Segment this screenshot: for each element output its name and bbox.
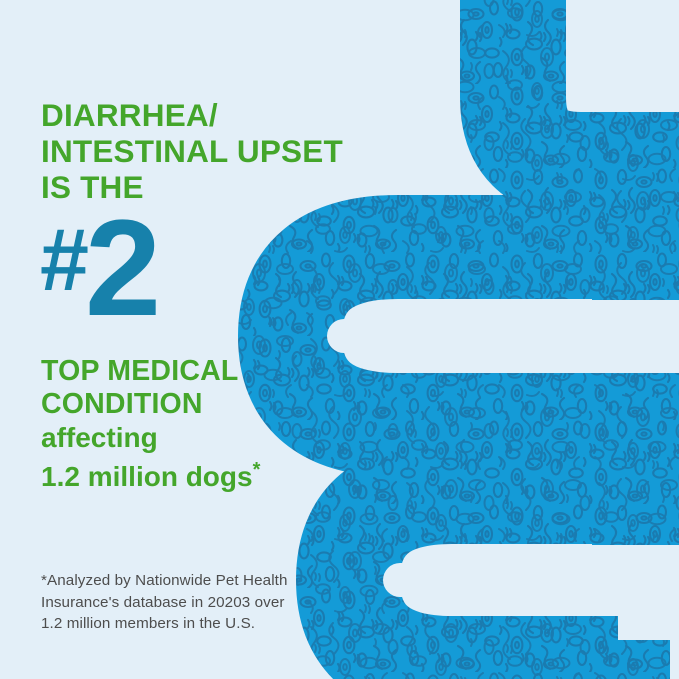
headline: DIARRHEA/ INTESTINAL UPSET IS THE xyxy=(41,97,371,205)
subheadline: TOP MEDICAL CONDITION affecting 1.2 mill… xyxy=(41,355,361,493)
subheadline-line-4: 1.2 million dogs* xyxy=(41,454,361,493)
hash-symbol: # xyxy=(40,216,87,304)
text-layer: DIARRHEA/ INTESTINAL UPSET IS THE # 2 TO… xyxy=(0,0,679,679)
subheadline-line-3: affecting xyxy=(41,421,361,454)
infographic-poster: DIARRHEA/ INTESTINAL UPSET IS THE # 2 TO… xyxy=(0,0,679,679)
subheadline-stat: 1.2 million dogs xyxy=(41,461,253,492)
subheadline-line-1: TOP MEDICAL xyxy=(41,355,361,388)
rank-value: 2 xyxy=(85,200,157,337)
footnote-line-3: 1.2 million members in the U.S. xyxy=(41,613,371,635)
rank-number-display: # 2 xyxy=(40,210,159,340)
headline-line-1: DIARRHEA/ xyxy=(41,97,371,133)
headline-line-2: INTESTINAL UPSET xyxy=(41,133,371,169)
footnote-line-2: Insurance's database in 20203 over xyxy=(41,592,371,614)
footnote-line-1: *Analyzed by Nationwide Pet Health xyxy=(41,570,371,592)
subheadline-line-2: CONDITION xyxy=(41,388,361,421)
footnote-asterisk-marker: * xyxy=(253,459,261,481)
footnote: *Analyzed by Nationwide Pet Health Insur… xyxy=(41,570,371,635)
